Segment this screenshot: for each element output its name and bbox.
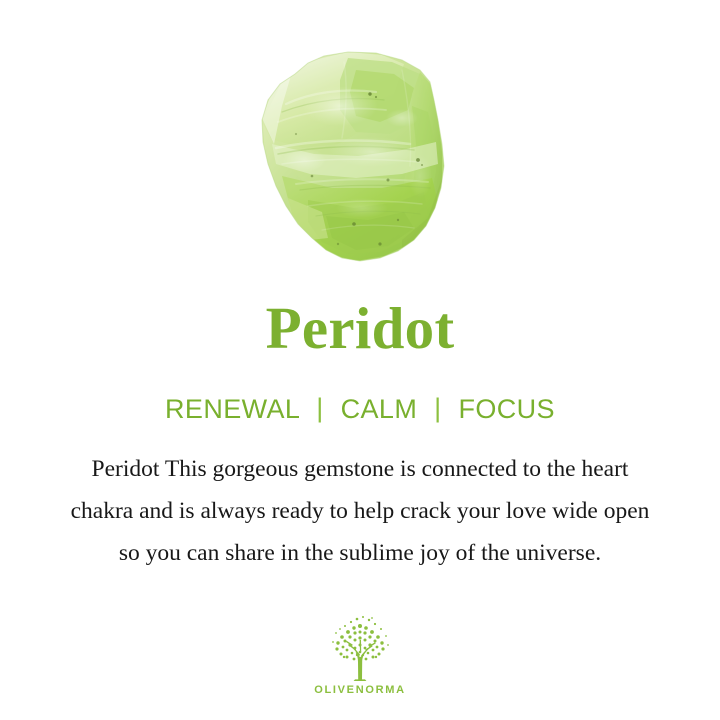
description-text: Peridot This gorgeous gemstone is connec… bbox=[0, 448, 720, 574]
keyword-line: RENEWAL | CALM | FOCUS bbox=[0, 394, 720, 425]
tree-canopy bbox=[332, 616, 389, 660]
brand-logo: OLIVENORMA bbox=[294, 612, 426, 696]
keyword-separator-2: | bbox=[425, 393, 450, 424]
description-line-2: chakra and is always ready to help crack… bbox=[0, 490, 720, 532]
keyword-separator-1: | bbox=[307, 393, 332, 424]
peridot-gemstone-image bbox=[252, 48, 470, 270]
keyword-focus: FOCUS bbox=[458, 394, 555, 424]
keyword-calm: CALM bbox=[341, 394, 418, 424]
description-line-1: Peridot This gorgeous gemstone is connec… bbox=[0, 448, 720, 490]
description-line-3: so you can share in the sublime joy of t… bbox=[0, 532, 720, 574]
tree-icon bbox=[324, 612, 396, 682]
keyword-renewal: RENEWAL bbox=[165, 394, 299, 424]
page-title: Peridot bbox=[0, 297, 720, 360]
brand-wordmark: OLIVENORMA bbox=[294, 684, 426, 696]
hero-image-area bbox=[0, 0, 720, 290]
product-info-card: Peridot RENEWAL | CALM | FOCUS Peridot T… bbox=[0, 0, 720, 720]
gemstone-illustration bbox=[252, 48, 470, 270]
